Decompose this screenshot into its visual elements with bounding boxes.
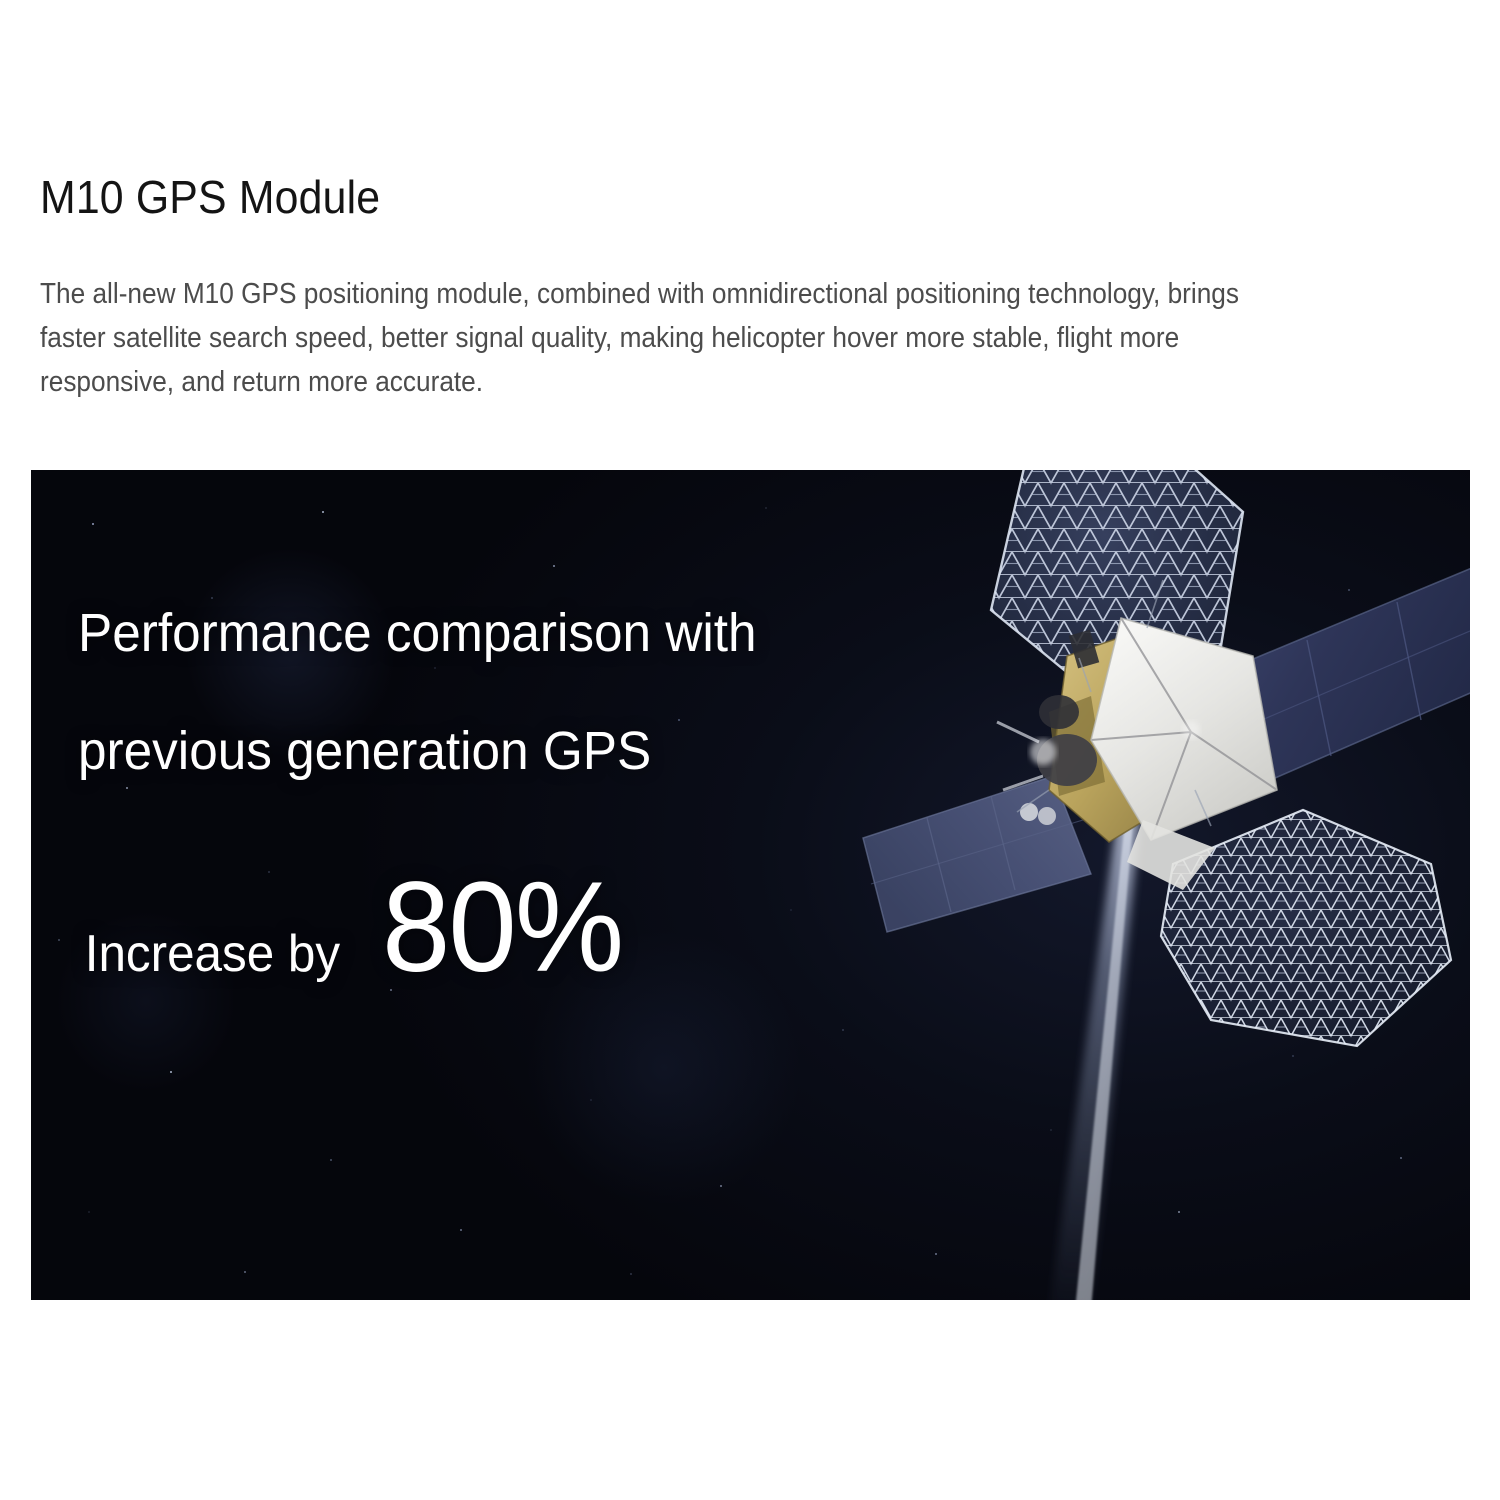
stat-value: 80%	[382, 868, 622, 988]
reflector-panel	[1091, 618, 1277, 890]
intro-paragraph: The all-new M10 GPS positioning module, …	[40, 272, 1245, 404]
hero-image-panel: Performance comparison with previous gen…	[31, 470, 1470, 1300]
hero-headline-line-1: Performance comparison with	[78, 574, 757, 692]
satellite-icon	[791, 470, 1470, 1300]
light-beam-icon	[1049, 790, 1143, 1300]
support-struts	[1017, 580, 1211, 826]
satellite-body	[997, 628, 1195, 842]
solar-panel-right	[1217, 560, 1470, 792]
product-feature-page: M10 GPS Module The all-new M10 GPS posit…	[0, 0, 1500, 1500]
page-title: M10 GPS Module	[40, 168, 380, 226]
mesh-antenna-upper	[991, 470, 1243, 728]
hero-headline: Performance comparison with previous gen…	[78, 574, 757, 810]
stat-row: Increase by 80%	[78, 868, 627, 988]
hero-headline-line-2: previous generation GPS	[78, 692, 757, 810]
solar-panel-left	[863, 776, 1091, 932]
stat-label: Increase by	[85, 928, 340, 980]
mesh-antenna-lower	[1161, 810, 1451, 1046]
